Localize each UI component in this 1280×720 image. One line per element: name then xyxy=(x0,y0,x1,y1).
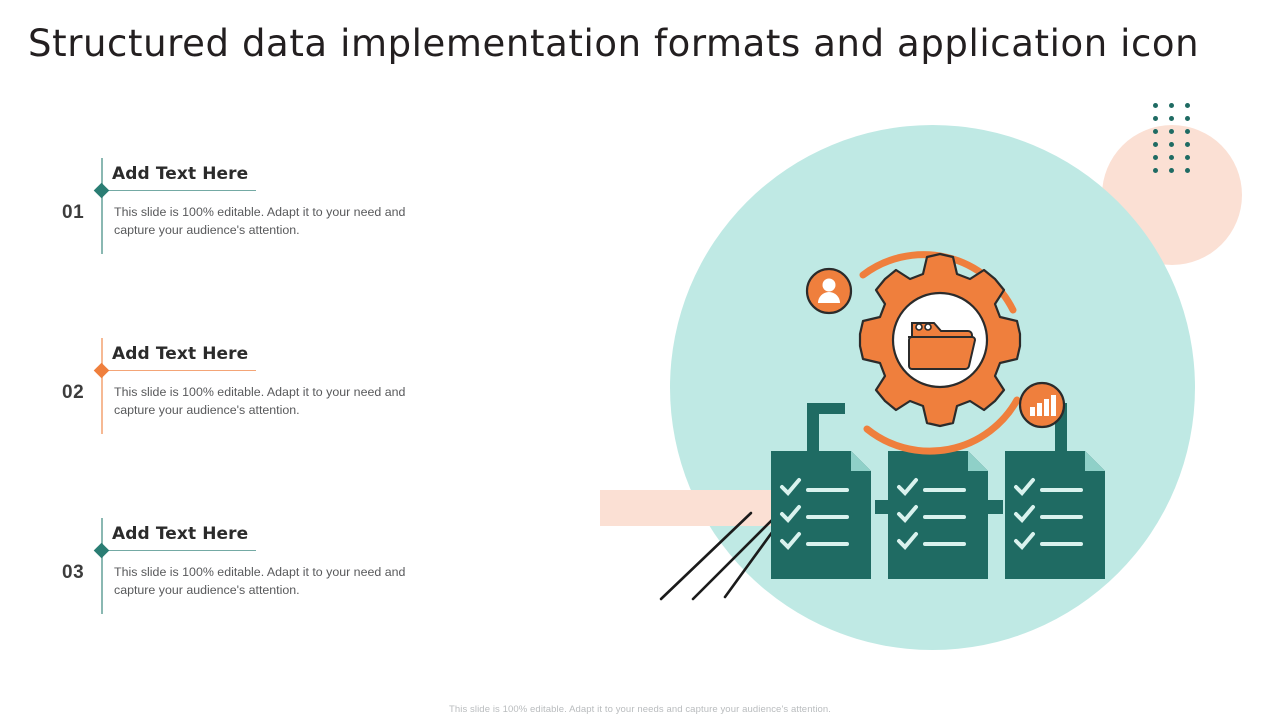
structured-data-illustration xyxy=(755,215,1125,615)
footer-note: This slide is 100% editable. Adapt it to… xyxy=(0,704,1280,715)
bullet-diamond-marker xyxy=(94,183,110,199)
bullet-list: 01 Add Text Here This slide is 100% edit… xyxy=(0,150,520,690)
bullet-number: 01 xyxy=(62,202,84,224)
bullet-vertical-rule xyxy=(101,158,103,254)
bullet-number: 02 xyxy=(62,382,84,404)
person-icon xyxy=(807,269,851,313)
bullet-diamond-marker xyxy=(94,363,110,379)
bullet-horizontal-rule xyxy=(101,190,256,191)
bar-chart-icon xyxy=(1020,383,1064,427)
decor-dot-grid xyxy=(1153,103,1201,181)
gear-icon xyxy=(860,254,1020,426)
document-checklist-icon xyxy=(1005,451,1105,579)
bullet-heading: Add Text Here xyxy=(112,164,248,184)
illustration-stage xyxy=(575,95,1280,695)
slide-canvas: Structured data implementation formats a… xyxy=(0,0,1280,720)
document-checklist-icon xyxy=(888,451,988,579)
page-title: Structured data implementation formats a… xyxy=(28,22,1208,65)
bullet-body-text: This slide is 100% editable. Adapt it to… xyxy=(114,563,444,599)
bullet-number: 03 xyxy=(62,562,84,584)
bullet-diamond-marker xyxy=(94,543,110,559)
list-item[interactable]: 03 Add Text Here This slide is 100% edit… xyxy=(0,510,520,690)
bullet-horizontal-rule xyxy=(101,370,256,371)
bullet-heading: Add Text Here xyxy=(112,524,248,544)
bullet-vertical-rule xyxy=(101,518,103,614)
document-checklist-icon xyxy=(771,451,871,579)
list-item[interactable]: 01 Add Text Here This slide is 100% edit… xyxy=(0,150,520,330)
bullet-vertical-rule xyxy=(101,338,103,434)
list-item[interactable]: 02 Add Text Here This slide is 100% edit… xyxy=(0,330,520,510)
document-card-group xyxy=(771,451,1105,579)
bullet-heading: Add Text Here xyxy=(112,344,248,364)
bullet-horizontal-rule xyxy=(101,550,256,551)
bullet-body-text: This slide is 100% editable. Adapt it to… xyxy=(114,383,444,419)
bullet-body-text: This slide is 100% editable. Adapt it to… xyxy=(114,203,444,239)
